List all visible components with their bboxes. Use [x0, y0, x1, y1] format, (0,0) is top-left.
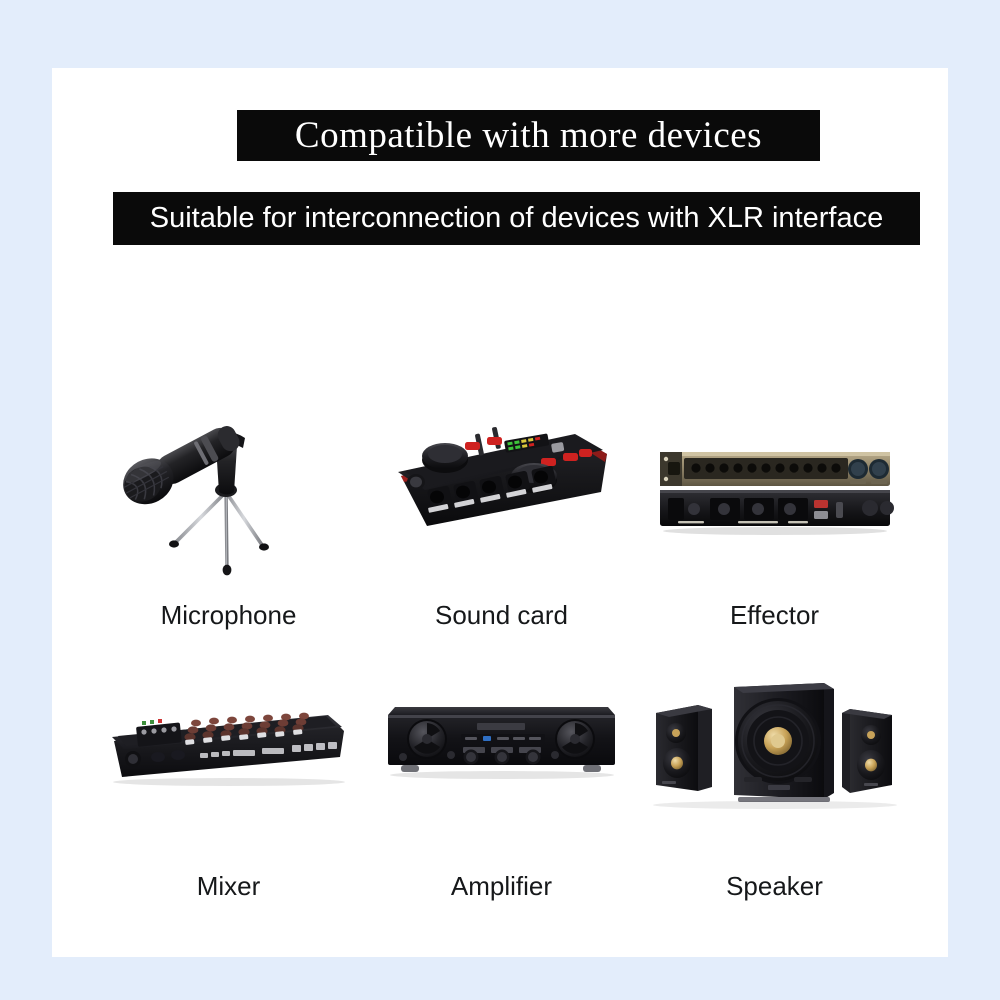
sound-card-mixer-icon [365, 380, 638, 585]
subtitle-banner: Suitable for interconnection of devices … [113, 192, 920, 245]
device-label: Speaker [638, 873, 911, 899]
device-grid: Microphone [92, 380, 912, 890]
page-subtitle: Suitable for interconnection of devices … [150, 204, 883, 233]
microphone-on-tripod-stand-icon [92, 380, 365, 585]
stereo-amplifier-icon [365, 635, 638, 840]
device-item-speaker: Speaker [638, 635, 911, 890]
device-label: Effector [638, 602, 911, 628]
speaker-system-icon [638, 635, 911, 840]
rack-effector-unit-icon [638, 380, 911, 585]
device-item-amplifier: Amplifier [365, 635, 638, 890]
title-banner: Compatible with more devices [237, 110, 820, 161]
device-item-sound-card: Sound card [365, 380, 638, 635]
device-label: Microphone [92, 602, 365, 628]
device-label: Mixer [92, 873, 365, 899]
device-label: Sound card [365, 602, 638, 628]
mixing-console-icon [92, 635, 365, 840]
device-item-mixer: Mixer [92, 635, 365, 890]
device-item-microphone: Microphone [92, 380, 365, 635]
infographic-page: Compatible with more devices Suitable fo… [0, 0, 1000, 1000]
page-title: Compatible with more devices [295, 117, 762, 154]
device-item-effector: Effector [638, 380, 911, 635]
device-label: Amplifier [365, 873, 638, 899]
